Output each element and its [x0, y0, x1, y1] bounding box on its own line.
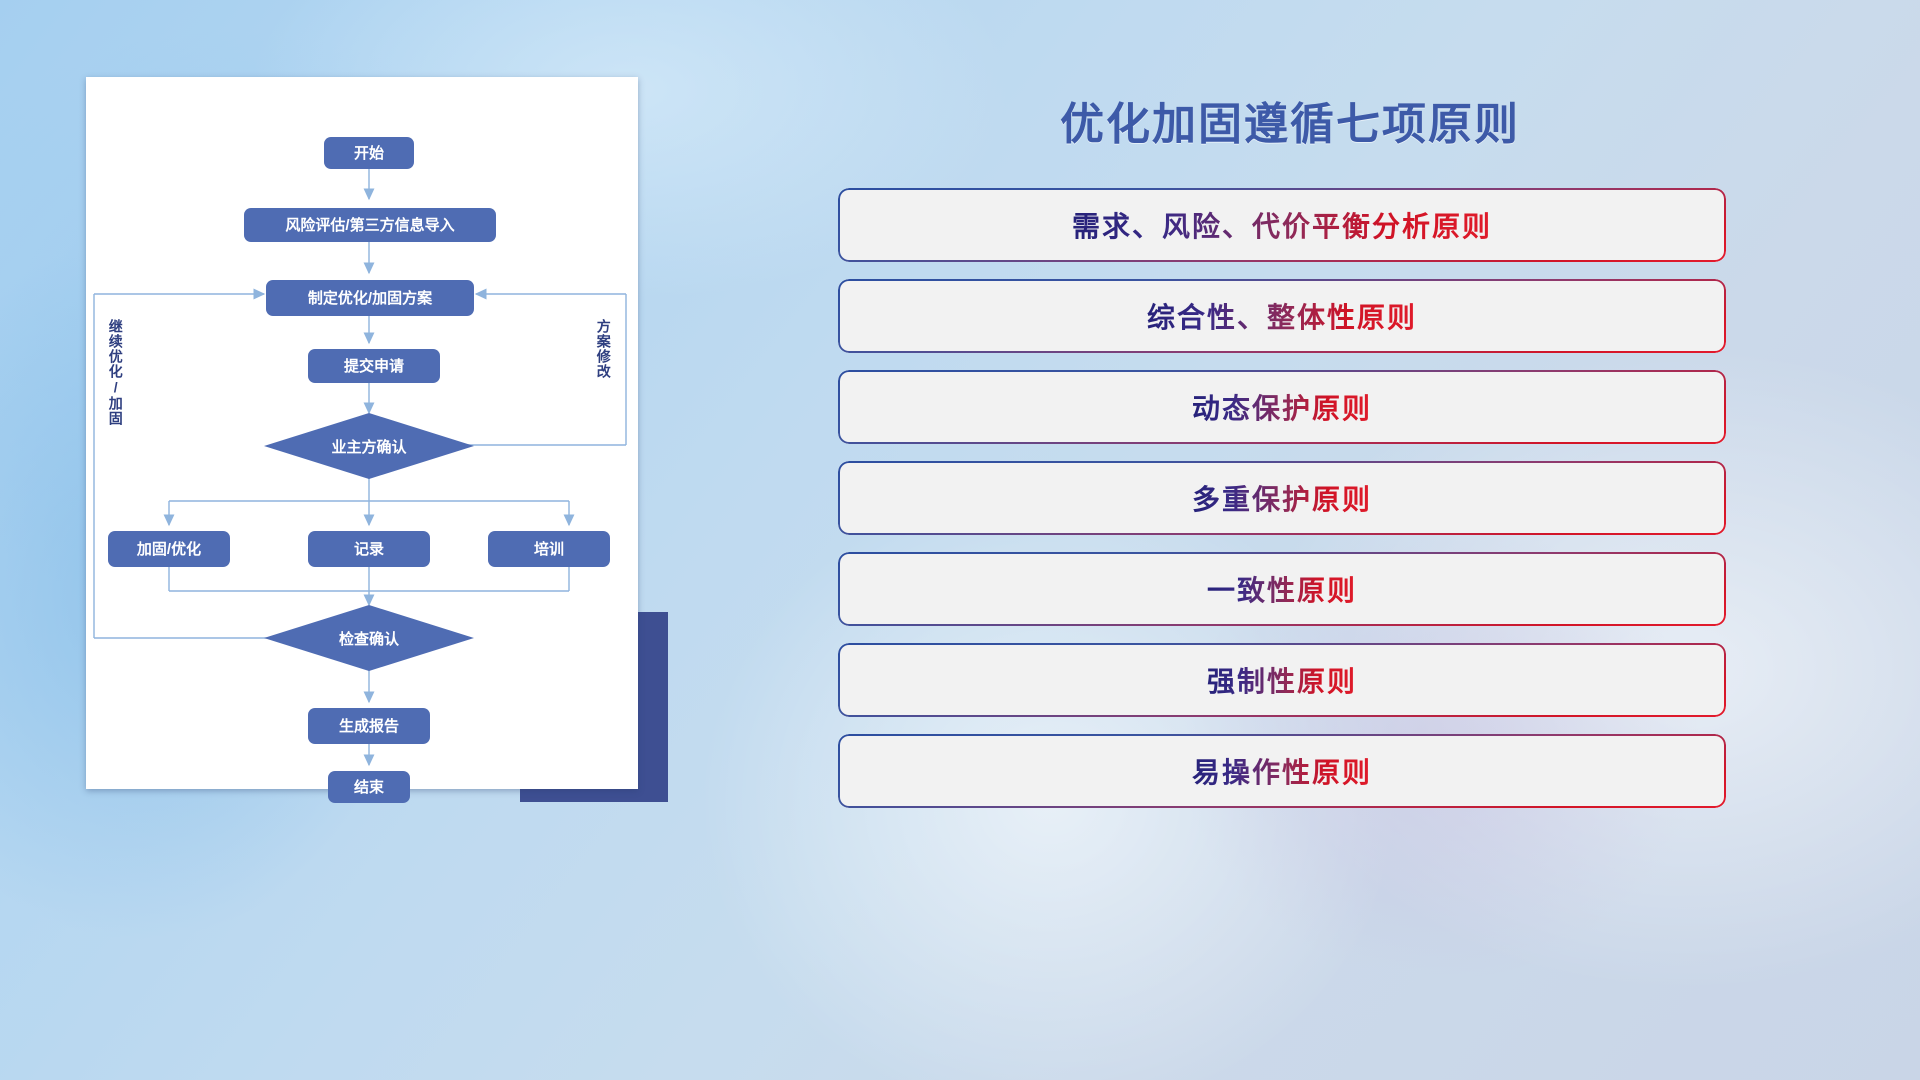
- principle-card[interactable]: 易操作性原则: [838, 734, 1726, 808]
- principles-panel: 优化加固遵循七项原则 需求、风险、代价平衡分析原则 综合性、整体性原则 动态保护…: [790, 0, 1920, 1080]
- flow-node-risk-assessment-label: 风险评估/第三方信息导入: [285, 218, 454, 233]
- principle-card-label: 一致性原则: [1207, 569, 1357, 609]
- principle-card[interactable]: 强制性原则: [838, 643, 1726, 717]
- flow-node-report[interactable]: 生成报告: [308, 708, 430, 744]
- principle-card[interactable]: 多重保护原则: [838, 461, 1726, 535]
- principle-card-label: 动态保护原则: [1192, 387, 1372, 427]
- flow-edge-label-left: 继续优化/加固: [108, 319, 123, 469]
- principles-list: 需求、风险、代价平衡分析原则 综合性、整体性原则 动态保护原则 多重保护原则 一…: [838, 188, 1726, 825]
- flow-node-end-label: 结束: [354, 780, 384, 795]
- panel-title: 优化加固遵循七项原则: [790, 88, 1790, 152]
- flow-node-reinforce[interactable]: 加固/优化: [108, 531, 230, 567]
- principle-card-label: 多重保护原则: [1192, 478, 1372, 518]
- flow-node-record-label: 记录: [354, 542, 384, 557]
- principle-card-label: 强制性原则: [1207, 660, 1357, 700]
- flow-node-owner-confirm-label: 业主方确认: [331, 436, 406, 457]
- flow-node-reinforce-label: 加固/优化: [137, 542, 201, 557]
- flow-node-risk-assessment[interactable]: 风险评估/第三方信息导入: [244, 208, 496, 242]
- flow-edge-label-right: 方案修改: [596, 319, 611, 429]
- principle-card[interactable]: 需求、风险、代价平衡分析原则: [838, 188, 1726, 262]
- flow-node-submit-label: 提交申请: [344, 359, 404, 374]
- flow-node-plan-label: 制定优化/加固方案: [308, 291, 432, 306]
- flow-node-start[interactable]: 开始: [324, 137, 414, 169]
- principle-card[interactable]: 一致性原则: [838, 552, 1726, 626]
- flow-node-training[interactable]: 培训: [488, 531, 610, 567]
- flowchart-paper: 开始 风险评估/第三方信息导入 制定优化/加固方案 提交申请 业主方确认 加固/…: [86, 77, 638, 789]
- flow-node-submit[interactable]: 提交申请: [308, 349, 440, 383]
- flow-node-training-label: 培训: [534, 542, 564, 557]
- slide-canvas: 开始 风险评估/第三方信息导入 制定优化/加固方案 提交申请 业主方确认 加固/…: [0, 0, 1920, 1080]
- principle-card-label: 需求、风险、代价平衡分析原则: [1072, 205, 1492, 245]
- flow-node-record[interactable]: 记录: [308, 531, 430, 567]
- flow-node-check-confirm-label: 检查确认: [339, 628, 399, 649]
- flow-node-report-label: 生成报告: [339, 719, 399, 734]
- principle-card[interactable]: 动态保护原则: [838, 370, 1726, 444]
- flow-node-start-label: 开始: [354, 146, 384, 161]
- principle-card[interactable]: 综合性、整体性原则: [838, 279, 1726, 353]
- principle-card-label: 综合性、整体性原则: [1147, 296, 1417, 336]
- principle-card-label: 易操作性原则: [1192, 751, 1372, 791]
- flow-node-end[interactable]: 结束: [328, 771, 410, 803]
- flow-node-plan[interactable]: 制定优化/加固方案: [266, 280, 474, 316]
